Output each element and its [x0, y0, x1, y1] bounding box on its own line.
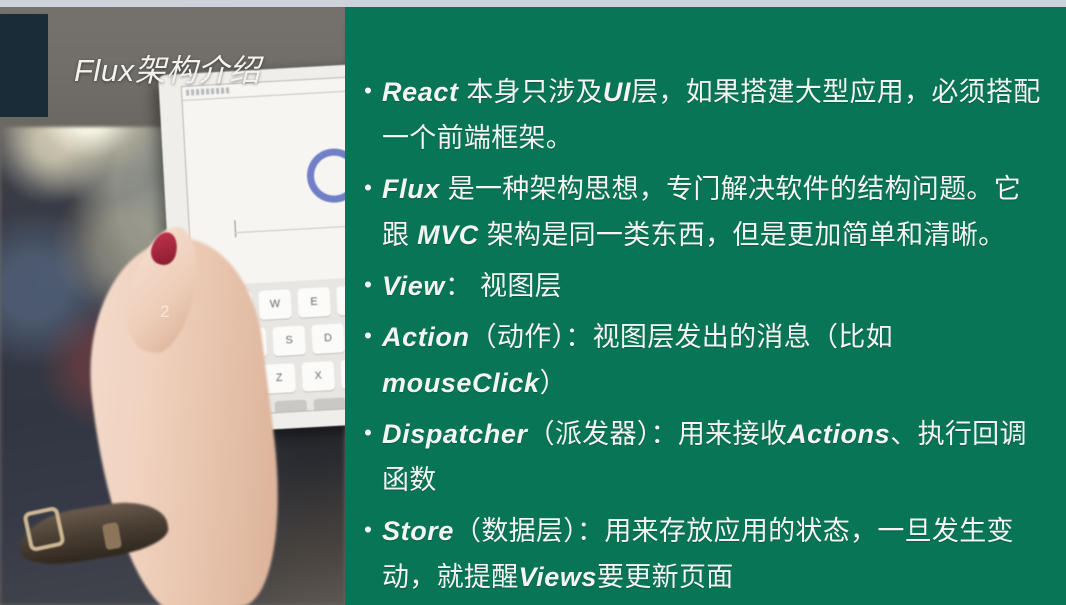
bullet-dot-icon: • — [354, 262, 382, 308]
key-x: X — [301, 361, 335, 392]
search-input-underline — [235, 226, 345, 234]
bullet-item: •Store（数据层）：用来存放应用的状态，一旦发生变动，就提醒Views要更新… — [354, 508, 1048, 600]
key-s: S — [272, 326, 306, 357]
google-g-icon — [306, 147, 345, 204]
bullet-keyword: React — [382, 77, 459, 107]
key-d: D — [311, 323, 345, 354]
bullet-dot-icon: • — [354, 165, 382, 211]
bullet-text: Dispatcher（派发器）：用来接收Actions、执行回调函数 — [382, 411, 1048, 503]
bullet-dot-icon: • — [354, 68, 382, 114]
bullet-text: Action（动作）：视图层发出的消息（比如 mouseClick） — [382, 314, 1048, 406]
bullet-keyword: Dispatcher — [382, 419, 528, 449]
bullet-body-text: （派发器）：用来接收 — [528, 419, 788, 449]
emoji-key — [274, 400, 308, 418]
bullet-item: •View： 视图层 — [354, 263, 1048, 309]
page-number: 2 — [160, 302, 169, 322]
bullet-body-text: 本身只涉及 — [459, 77, 603, 107]
search-caret — [234, 220, 236, 237]
slide: Q W E R T A S D F G ⬥ Z — [0, 0, 1066, 605]
bullet-keyword: Views — [519, 562, 598, 592]
page-title: Flux架构介绍 — [74, 45, 261, 90]
mic-key — [313, 397, 345, 417]
content-panel: •React 本身只涉及UI层，如果搭建大型应用，必须搭配一个前端框架。•Flu… — [345, 7, 1066, 605]
bullet-list: •React 本身只涉及UI层，如果搭建大型应用，必须搭配一个前端框架。•Flu… — [345, 7, 1066, 605]
bullet-text: Flux 是一种架构思想，专门解决软件的结构问题。它跟 MVC 架构是同一类东西… — [382, 166, 1048, 258]
bullet-dot-icon: • — [354, 410, 382, 456]
bullet-keyword: MVC — [417, 220, 479, 250]
bullet-text: Store（数据层）：用来存放应用的状态，一旦发生变动，就提醒Views要更新页… — [382, 508, 1048, 600]
bullet-keyword: View — [382, 271, 445, 301]
bullet-body-text: （动作）：视图层发出的消息（比如 — [470, 322, 893, 352]
key-r: R — [336, 285, 345, 316]
bullet-item: •React 本身只涉及UI层，如果搭建大型应用，必须搭配一个前端框架。 — [354, 69, 1048, 161]
bullet-body-text: ） — [540, 368, 567, 398]
bullet-keyword: mouseClick — [382, 368, 540, 398]
key-w: W — [258, 289, 292, 320]
bullet-keyword: Actions — [787, 419, 890, 449]
bullet-item: •Flux 是一种架构思想，专门解决软件的结构问题。它跟 MVC 架构是同一类东… — [354, 166, 1048, 258]
bullet-keyword: Flux — [382, 174, 440, 204]
photo-panel: Q W E R T A S D F G ⬥ Z — [0, 7, 345, 605]
bullet-item: •Action（动作）：视图层发出的消息（比如 mouseClick） — [354, 314, 1048, 406]
bullet-body-text: 要更新页面 — [597, 562, 734, 592]
bullet-body-text: 架构是同一类东西，但是更加简单和清晰。 — [479, 220, 1006, 250]
bullet-item: •Dispatcher（派发器）：用来接收Actions、执行回调函数 — [354, 411, 1048, 503]
key-e: E — [297, 287, 331, 318]
bullet-text: View： 视图层 — [382, 263, 1048, 309]
bullet-dot-icon: • — [354, 507, 382, 553]
bullet-keyword: Store — [382, 516, 454, 546]
bullet-text: React 本身只涉及UI层，如果搭建大型应用，必须搭配一个前端框架。 — [382, 69, 1048, 161]
bullet-dot-icon: • — [354, 313, 382, 359]
bullet-keyword: UI — [603, 77, 631, 107]
accent-block — [0, 14, 48, 117]
bullet-body-text: ： 视图层 — [445, 271, 562, 301]
bullet-keyword: Action — [382, 322, 470, 352]
